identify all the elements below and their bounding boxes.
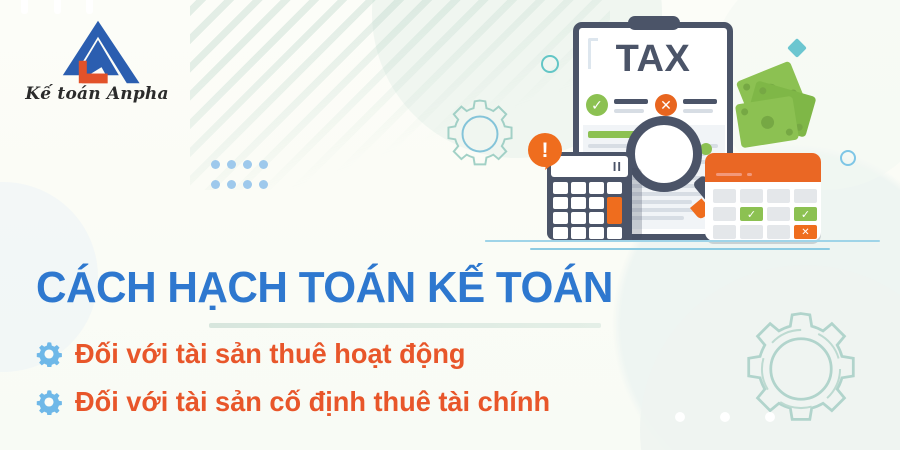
background-circle-bottom-right [640,265,900,450]
calculator-display-text: II [613,159,622,174]
list-item: Đối với tài sản thuê hoạt động [36,334,676,374]
tax-heading: TAX [573,38,733,81]
ground-line [485,240,880,242]
title-underline [209,323,601,328]
brand-logo: Kế toán Anpha [22,16,172,121]
circle-outline-icon [840,150,856,166]
calculator-display: II [551,156,628,177]
page-title: CÁCH HẠCH TOÁN KẾ TOÁN [36,266,613,310]
calendar-icon [705,153,821,241]
gear-icon [36,389,62,415]
calendar-ring [86,0,93,14]
cross-badge-icon: ✕ [655,94,677,116]
text-line [683,109,713,113]
clipboard-clip [628,16,680,30]
cash-bills-icon [735,96,799,149]
calculator-shadow [632,168,642,240]
list-item: Đối với tài sản cố định thuê tài chính [36,382,676,422]
calendar-ring [54,0,61,14]
list-item-label: Đối với tài sản thuê hoạt động [75,338,466,370]
dot-grid-icon [211,160,275,200]
circle-outline-icon [541,55,559,73]
ground-line [530,248,830,250]
ground-line-dash [858,240,872,242]
calendar-grid [713,189,817,239]
calendar-header [705,153,821,182]
white-dots-decor [675,412,775,422]
bullet-list: Đối với tài sản thuê hoạt động Đối với t… [36,334,676,430]
calendar-ring [21,0,28,14]
anpha-triangle-logo-icon [50,16,146,88]
poster-canvas: Kế toán Anpha CÁCH HẠCH TOÁN KẾ TOÁN Đối… [0,0,900,450]
calculator-keypad [553,182,622,239]
brand-name: Kế toán Anpha [22,84,172,104]
exclamation-icon: ! [528,133,562,167]
text-line [614,99,648,104]
text-line [683,99,717,104]
list-item-label: Đối với tài sản cố định thuê tài chính [75,386,550,418]
gear-icon [36,341,62,367]
check-badge-icon: ✓ [586,94,608,116]
text-line [614,109,644,113]
